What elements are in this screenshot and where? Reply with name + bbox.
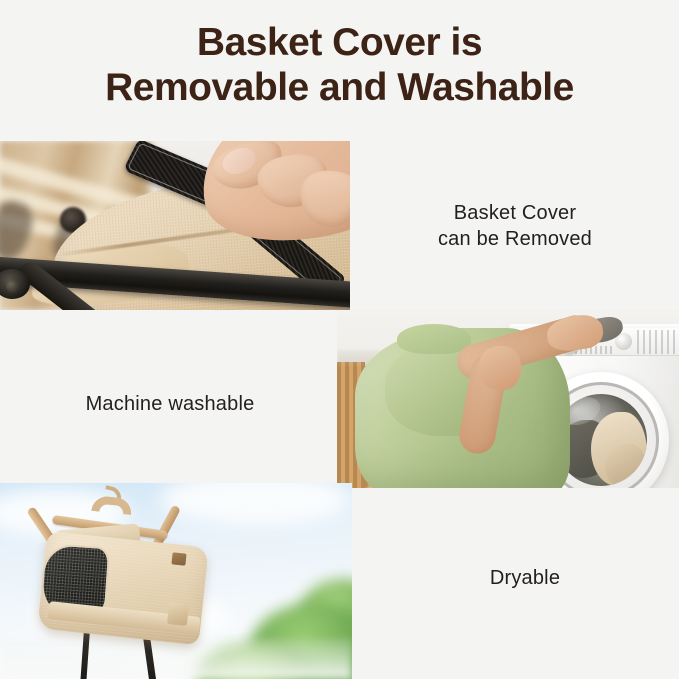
brand-logo-patch [171,552,186,565]
caption-line-2: can be Removed [370,226,660,252]
page-title-line-1: Basket Cover is [0,20,679,65]
page-title-line-2: Removable and Washable [0,65,679,110]
page-title: Basket Cover is Removable and Washable [0,20,679,110]
caption-dryable: Dryable [400,565,650,591]
photo-cover-drying-on-hanger [0,483,352,679]
person-hand-fist [479,346,521,390]
control-panel-markings [637,330,679,354]
cover-buckle [167,602,189,626]
caption-basket-cover-can-be-removed: Basket Cover can be Removed [370,200,660,253]
infographic-page: Basket Cover is Removable and Washable B… [0,0,679,679]
photo-hand-peeling-basket-cover-velcro [0,141,350,310]
shirt-collar [397,324,471,354]
laundry-item [605,444,647,486]
photo-person-loading-washing-machine [337,310,679,488]
caption-machine-washable: Machine washable [10,391,330,417]
caption-line-1: Basket Cover [370,200,660,226]
ground-haze [0,639,352,679]
frame-bolt [6,280,19,293]
caption-line-1: Machine washable [10,391,330,417]
caption-line-1: Dryable [400,565,650,591]
